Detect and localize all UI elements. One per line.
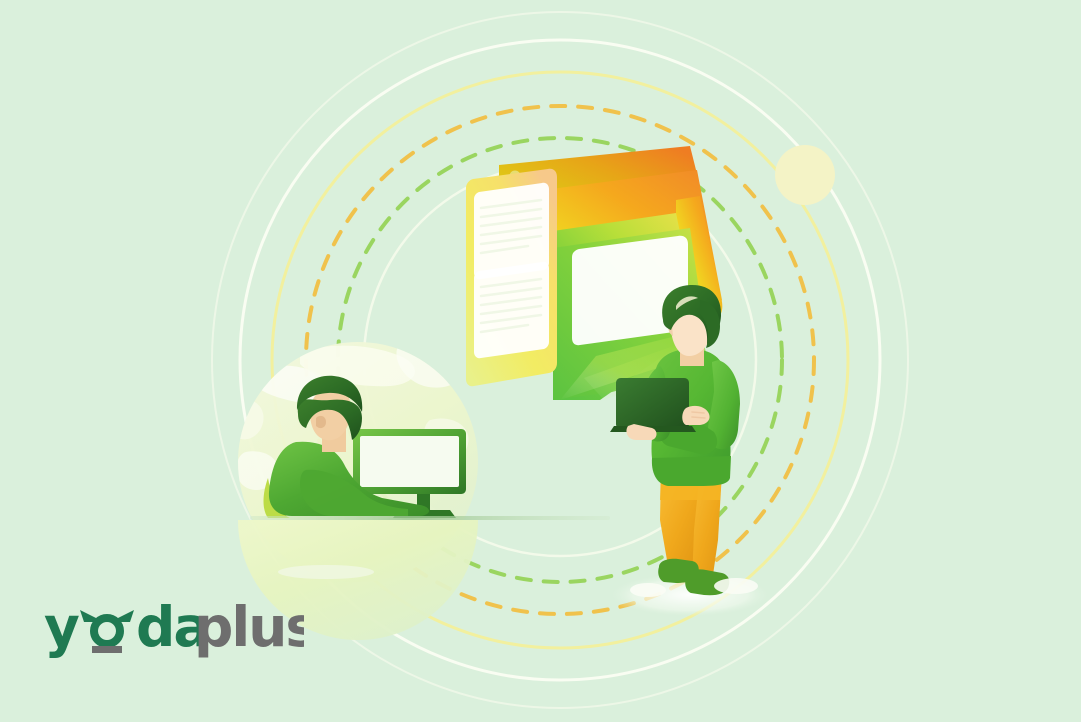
- brand-logo[interactable]: y da plus: [44, 598, 304, 660]
- logo-text-y: y: [44, 598, 79, 659]
- yoda-o-mark: [80, 610, 134, 653]
- logo-svg: y da plus: [44, 598, 304, 660]
- pale-yellow-circle: [775, 145, 835, 205]
- logo-text-plus: plus: [194, 598, 304, 659]
- logo-dash: [92, 646, 122, 653]
- panel-card-2: [474, 262, 549, 358]
- banner-canvas: y da plus: [0, 0, 1081, 722]
- desk-surface: [250, 516, 610, 520]
- monitor-screen: [360, 436, 459, 487]
- laptop-screen: [616, 378, 689, 429]
